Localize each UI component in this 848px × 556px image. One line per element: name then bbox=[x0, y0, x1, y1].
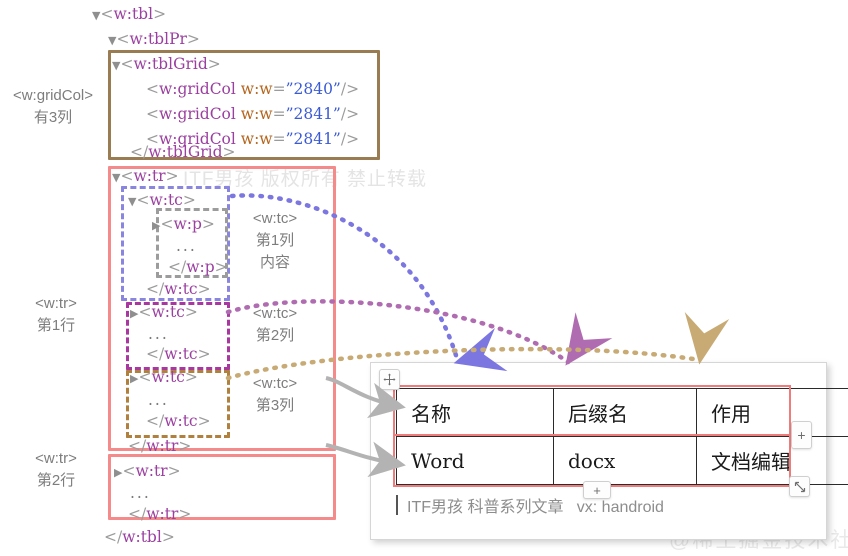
xml-line-tblgrid-close[interactable]: </w:tblGrid> bbox=[130, 140, 236, 165]
xml-line-tr2-close[interactable]: </w:tr> bbox=[128, 502, 191, 527]
document-footer-text: ITF男孩 科普系列文章 vx: handroid bbox=[407, 493, 664, 517]
annotation-tr1: <w:tr>第1行 bbox=[6, 293, 106, 337]
table-header-cell-1[interactable]: 名称 bbox=[397, 389, 554, 437]
xml-line-gridcol-2[interactable]: <w:gridCol w:w=”2841”/> bbox=[146, 102, 359, 127]
word-document-panel[interactable]: 名称 后缀名 作用 Word docx 文档编辑 + + ITF男孩 科普系列文… bbox=[370, 362, 827, 540]
table-resize-handle[interactable] bbox=[789, 476, 810, 497]
annotation-tr1-line1: <w:tr> bbox=[35, 295, 77, 312]
annotation-tr2-line2: 第2行 bbox=[37, 472, 75, 489]
xml-line-gridcol-1[interactable]: <w:gridCol w:w=”2840”/> bbox=[146, 77, 359, 102]
table-move-handle[interactable] bbox=[379, 369, 400, 390]
xml-line-tc2-close[interactable]: </w:tc> bbox=[146, 342, 211, 367]
table-header-cell-3[interactable]: 作用 bbox=[697, 389, 848, 437]
xml-line-tbl-close[interactable]: </w:tbl> bbox=[104, 525, 175, 550]
table-cell-1-2[interactable]: docx bbox=[554, 437, 697, 485]
word-table[interactable]: 名称 后缀名 作用 Word docx 文档编辑 bbox=[396, 388, 848, 485]
table-cell-1-3[interactable]: 文档编辑 bbox=[697, 437, 848, 485]
xml-line-tbl-open[interactable]: ▼<w:tbl> bbox=[92, 2, 166, 28]
xml-line-tblpr-open[interactable]: ▼<w:tblPr> bbox=[108, 27, 200, 53]
xml-line-tr1-open[interactable]: ▼<w:tr> bbox=[112, 164, 179, 190]
annotation-tc1: <w:tc>第1列内容 bbox=[232, 208, 318, 274]
add-row-button[interactable]: + bbox=[583, 481, 611, 499]
annotation-tr2: <w:tr>第2行 bbox=[6, 448, 106, 492]
annotation-tc2: <w:tc>第2列 bbox=[232, 303, 318, 347]
annotation-tc1-line2: 第1列 bbox=[256, 232, 294, 249]
annotation-tc1-line1: <w:tc> bbox=[253, 210, 297, 227]
move-cross-icon bbox=[383, 373, 396, 386]
table-header-cell-2[interactable]: 后缀名 bbox=[554, 389, 697, 437]
xml-line-tc1-close[interactable]: </w:tc> bbox=[146, 277, 211, 302]
screenshot-root: ITF男孩 版权所有 禁止转载 ▼<w:tbl> ▼<w:tblPr> ▼<w:… bbox=[0, 0, 848, 556]
annotation-tc2-line1: <w:tc> bbox=[253, 305, 297, 322]
annotation-tr2-line1: <w:tr> bbox=[35, 450, 77, 467]
text-cursor bbox=[396, 495, 398, 515]
xml-line-tc1-open[interactable]: ▼<w:tc> bbox=[128, 188, 196, 214]
add-column-button[interactable]: + bbox=[791, 421, 812, 449]
annotation-tr1-line2: 第1行 bbox=[37, 317, 75, 334]
annotation-tc2-line2: 第2列 bbox=[256, 327, 294, 344]
xml-line-tc3-close[interactable]: </w:tc> bbox=[146, 409, 211, 434]
document-footer: ITF男孩 科普系列文章 vx: handroid bbox=[396, 493, 664, 517]
xml-line-tblgrid-open[interactable]: ▼<w:tblGrid> bbox=[112, 52, 221, 78]
annotation-gridcol: <w:gridCol>有3列 bbox=[0, 85, 106, 129]
resize-arrow-icon bbox=[794, 481, 806, 493]
annotation-gridcol-line2: 有3列 bbox=[34, 109, 72, 126]
annotation-tc1-line3: 内容 bbox=[260, 254, 290, 271]
table-row[interactable]: Word docx 文档编辑 bbox=[397, 437, 848, 485]
table-row-header[interactable]: 名称 后缀名 作用 bbox=[397, 389, 848, 437]
annotation-tc3-line1: <w:tc> bbox=[253, 375, 297, 392]
annotation-tc3: <w:tc>第3列 bbox=[232, 373, 318, 417]
table-cell-1-1[interactable]: Word bbox=[397, 437, 554, 485]
annotation-tc3-line2: 第3列 bbox=[256, 397, 294, 414]
annotation-gridcol-line1: <w:gridCol> bbox=[13, 87, 93, 104]
xml-line-tr1-close[interactable]: </w:tr> bbox=[128, 434, 191, 459]
